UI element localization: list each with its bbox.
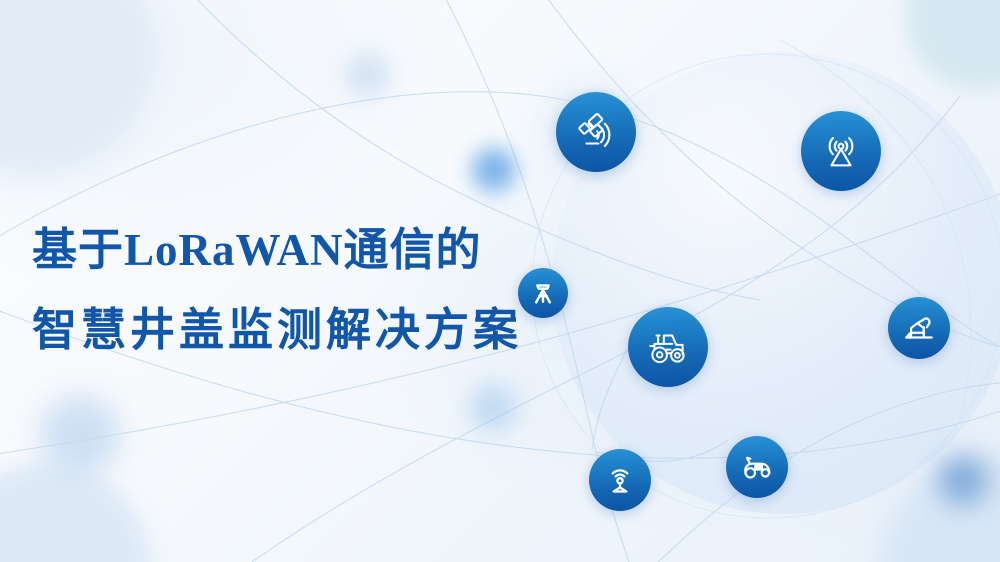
survey-tripod-icon xyxy=(528,278,558,308)
background-blob-top-left xyxy=(0,0,158,180)
node-wireless-sensor[interactable] xyxy=(589,449,651,511)
oil-pumpjack-icon xyxy=(900,309,938,347)
tractor-icon xyxy=(643,322,693,372)
background-blob-bottom-left xyxy=(0,462,153,562)
node-satellite[interactable] xyxy=(556,92,636,172)
background-dot-accent-1 xyxy=(472,148,516,192)
slide-title-line-1: 基于LoRaWAN通信的 xyxy=(32,228,552,273)
background-dot-accent-3 xyxy=(938,455,988,505)
presentation-slide: 基于LoRaWAN通信的 智慧井盖监测解决方案 xyxy=(0,0,1000,562)
radio-tower-icon xyxy=(818,128,864,174)
background-blob-bottom-right xyxy=(880,455,1000,562)
slide-title-block: 基于LoRaWAN通信的 智慧井盖监测解决方案 xyxy=(32,228,552,353)
background-blob-mid-left xyxy=(40,395,120,475)
node-radio-tower[interactable] xyxy=(801,111,881,191)
node-oil-pumpjack[interactable] xyxy=(888,297,950,359)
node-survey-tripod[interactable] xyxy=(518,268,568,318)
background-blob-top-right xyxy=(905,0,1000,90)
slide-title-line-2: 智慧井盖监测解决方案 xyxy=(32,308,552,353)
node-robot-mower[interactable] xyxy=(726,436,788,498)
robot-mower-icon xyxy=(737,447,777,487)
background-dot-accent-2 xyxy=(470,385,516,431)
satellite-dish-icon xyxy=(572,108,620,156)
node-tractor[interactable] xyxy=(628,307,708,387)
background-blob-small-top xyxy=(345,52,390,97)
wireless-sensor-icon xyxy=(601,461,639,499)
